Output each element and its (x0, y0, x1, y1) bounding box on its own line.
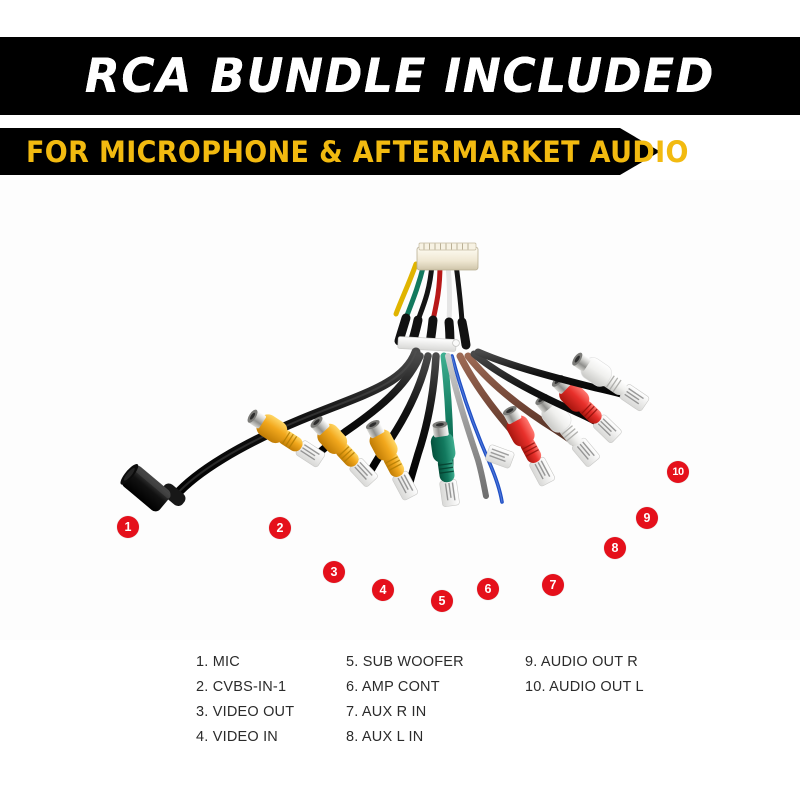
callout-marker-7: 7 (542, 574, 564, 596)
callout-marker-10: 10 (667, 461, 689, 483)
legend-column-1: 1. MIC 2. CVBS-IN-1 3. VIDEO OUT 4. VIDE… (196, 650, 294, 750)
marker-label: 6 (485, 583, 492, 596)
legend-item-7: 7. AUX R IN (346, 700, 464, 725)
legend-item-1: 1. MIC (196, 650, 294, 675)
product-image-canvas: RCA BUNDLE INCLUDED FOR MICROPHONE & AFT… (0, 0, 800, 800)
headline-text: RCA BUNDLE INCLUDED (85, 49, 715, 104)
legend-item-8: 8. AUX L IN (346, 725, 464, 750)
marker-label: 3 (331, 566, 338, 579)
legend-item-2: 2. CVBS-IN-1 (196, 675, 294, 700)
legend: 1. MIC 2. CVBS-IN-1 3. VIDEO OUT 4. VIDE… (0, 650, 800, 770)
legend-item-9: 9. AUDIO OUT R (525, 650, 644, 675)
multipin-plug-icon (417, 243, 478, 270)
legend-column-2: 5. SUB WOOFER 6. AMP CONT 7. AUX R IN 8.… (346, 650, 464, 750)
wire-fan-upper (396, 264, 466, 345)
marker-label: 1 (125, 521, 132, 534)
marker-label: 8 (612, 542, 619, 555)
legend-item-4: 4. VIDEO IN (196, 725, 294, 750)
harness-photo (0, 180, 800, 640)
legend-item-6: 6. AMP CONT (346, 675, 464, 700)
marker-label: 2 (277, 522, 284, 535)
legend-item-5: 5. SUB WOOFER (346, 650, 464, 675)
callout-marker-6: 6 (477, 578, 499, 600)
legend-column-3: 9. AUDIO OUT R 10. AUDIO OUT L (525, 650, 644, 700)
callout-marker-2: 2 (269, 517, 291, 539)
legend-item-10: 10. AUDIO OUT L (525, 675, 644, 700)
subhead-banner: FOR MICROPHONE & AFTERMARKET AUDIO (0, 128, 660, 175)
callout-marker-3: 3 (323, 561, 345, 583)
harness-illustration (0, 180, 800, 640)
callout-marker-9: 9 (636, 507, 658, 529)
marker-label: 9 (644, 512, 651, 525)
marker-label: 10 (672, 467, 683, 478)
legend-item-3: 3. VIDEO OUT (196, 700, 294, 725)
marker-label: 5 (439, 595, 446, 608)
callout-marker-8: 8 (604, 537, 626, 559)
headline-banner: RCA BUNDLE INCLUDED (0, 37, 800, 115)
marker-label: 4 (380, 584, 387, 597)
marker-label: 7 (550, 579, 557, 592)
callout-marker-5: 5 (431, 590, 453, 612)
callout-marker-1: 1 (117, 516, 139, 538)
subhead-text: FOR MICROPHONE & AFTERMARKET AUDIO (26, 135, 689, 169)
callout-marker-4: 4 (372, 579, 394, 601)
